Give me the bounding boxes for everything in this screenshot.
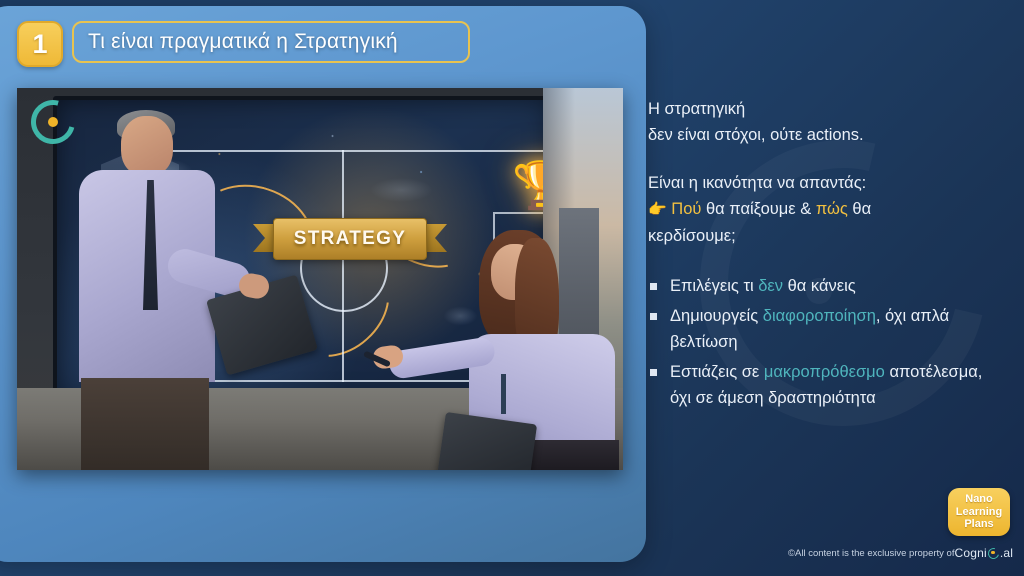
question-block: Είναι η ικανότητα να απαντάς: 👉 Πού θα π…: [648, 170, 998, 249]
nlp-line-2: Learning: [956, 506, 1002, 519]
list-item: Επιλέγεις τι δεν θα κάνεις: [648, 273, 998, 299]
logo-dot: [48, 117, 58, 127]
list-item: Δημιουργείς διαφοροποίηση, όχι απλά βελτ…: [648, 303, 998, 355]
intro-line-1: Η στρατηγική: [648, 96, 998, 122]
slide-title-box: Τι είναι πραγματικά η Στρατηγική: [72, 21, 470, 63]
bullet-1-post: θα κάνεις: [783, 277, 856, 295]
bullet-1-pre: Επιλέγεις τι: [670, 277, 758, 295]
presentation-slide: 1 Τι είναι πραγματικά η Στρατηγική: [0, 0, 1024, 576]
question-how: πώς: [816, 200, 848, 218]
slide-photo: 🏆 STRATEGY: [17, 88, 623, 470]
slide-number-badge: 1: [17, 21, 63, 67]
bullet-square-icon: [650, 369, 657, 376]
body-text-column: Η στρατηγική δεν είναι στόχοι, ούτε acti…: [648, 96, 998, 427]
pointing-hand-icon: 👉: [648, 201, 667, 218]
nlp-line-1: Nano: [965, 493, 993, 506]
copyright-text: ©All content is the exclusive property o…: [788, 548, 954, 559]
brand-name-suffix: .al: [1000, 546, 1013, 560]
slide-number-value: 1: [32, 31, 47, 58]
banner-center: STRATEGY: [273, 218, 427, 260]
bullet-2-pre: Δημιουργείς: [670, 307, 763, 325]
cogni-c-logo-icon: [988, 548, 999, 559]
question-where: Πού: [671, 200, 701, 218]
cogni-c-logo-icon: [31, 100, 75, 144]
brand-name-prefix: Cogni: [954, 546, 986, 560]
photo-person-left-head: [121, 116, 173, 176]
logo-dot: [991, 551, 994, 554]
question-tail: θα: [848, 200, 871, 218]
photo-person-left-trousers: [81, 378, 209, 470]
bullet-3-accent: μακροπρόθεσμο: [764, 363, 885, 381]
list-item: Εστιάζεις σε μακροπρόθεσμο αποτέλεσμα, ό…: [648, 359, 998, 411]
bullet-square-icon: [650, 283, 657, 290]
bullet-3-pre: Εστιάζεις σε: [670, 363, 764, 381]
question-lead: Είναι η ικανότητα να απαντάς:: [648, 170, 998, 196]
question-middle: θα παίξουμε &: [701, 200, 815, 218]
bullet-2-accent: διαφοροποίηση: [763, 307, 876, 325]
bullet-1-accent: δεν: [758, 277, 783, 295]
intro-paragraph: Η στρατηγική δεν είναι στόχοι, ούτε acti…: [648, 96, 998, 148]
page-title: Τι είναι πραγματικά η Στρατηγική: [88, 30, 398, 54]
nano-learning-plans-badge[interactable]: Nano Learning Plans: [948, 488, 1010, 536]
banner-label: STRATEGY: [294, 228, 406, 250]
bullet-square-icon: [650, 313, 657, 320]
intro-line-2: δεν είναι στόχοι, ούτε actions.: [648, 122, 998, 148]
bullet-list: Επιλέγεις τι δεν θα κάνεις Δημιουργείς δ…: [648, 273, 998, 411]
nlp-line-3: Plans: [964, 518, 993, 531]
question-line-2: κερδίσουμε;: [648, 223, 998, 249]
paragraph-spacer: [648, 148, 998, 170]
copyright-notice: ©All content is the exclusive property o…: [788, 546, 1013, 560]
photo-strategy-banner: STRATEGY: [253, 218, 447, 258]
photo-person-right-lanyard: [501, 374, 506, 414]
question-line-1: 👉 Πού θα παίξουμε & πώς θα: [648, 196, 998, 223]
